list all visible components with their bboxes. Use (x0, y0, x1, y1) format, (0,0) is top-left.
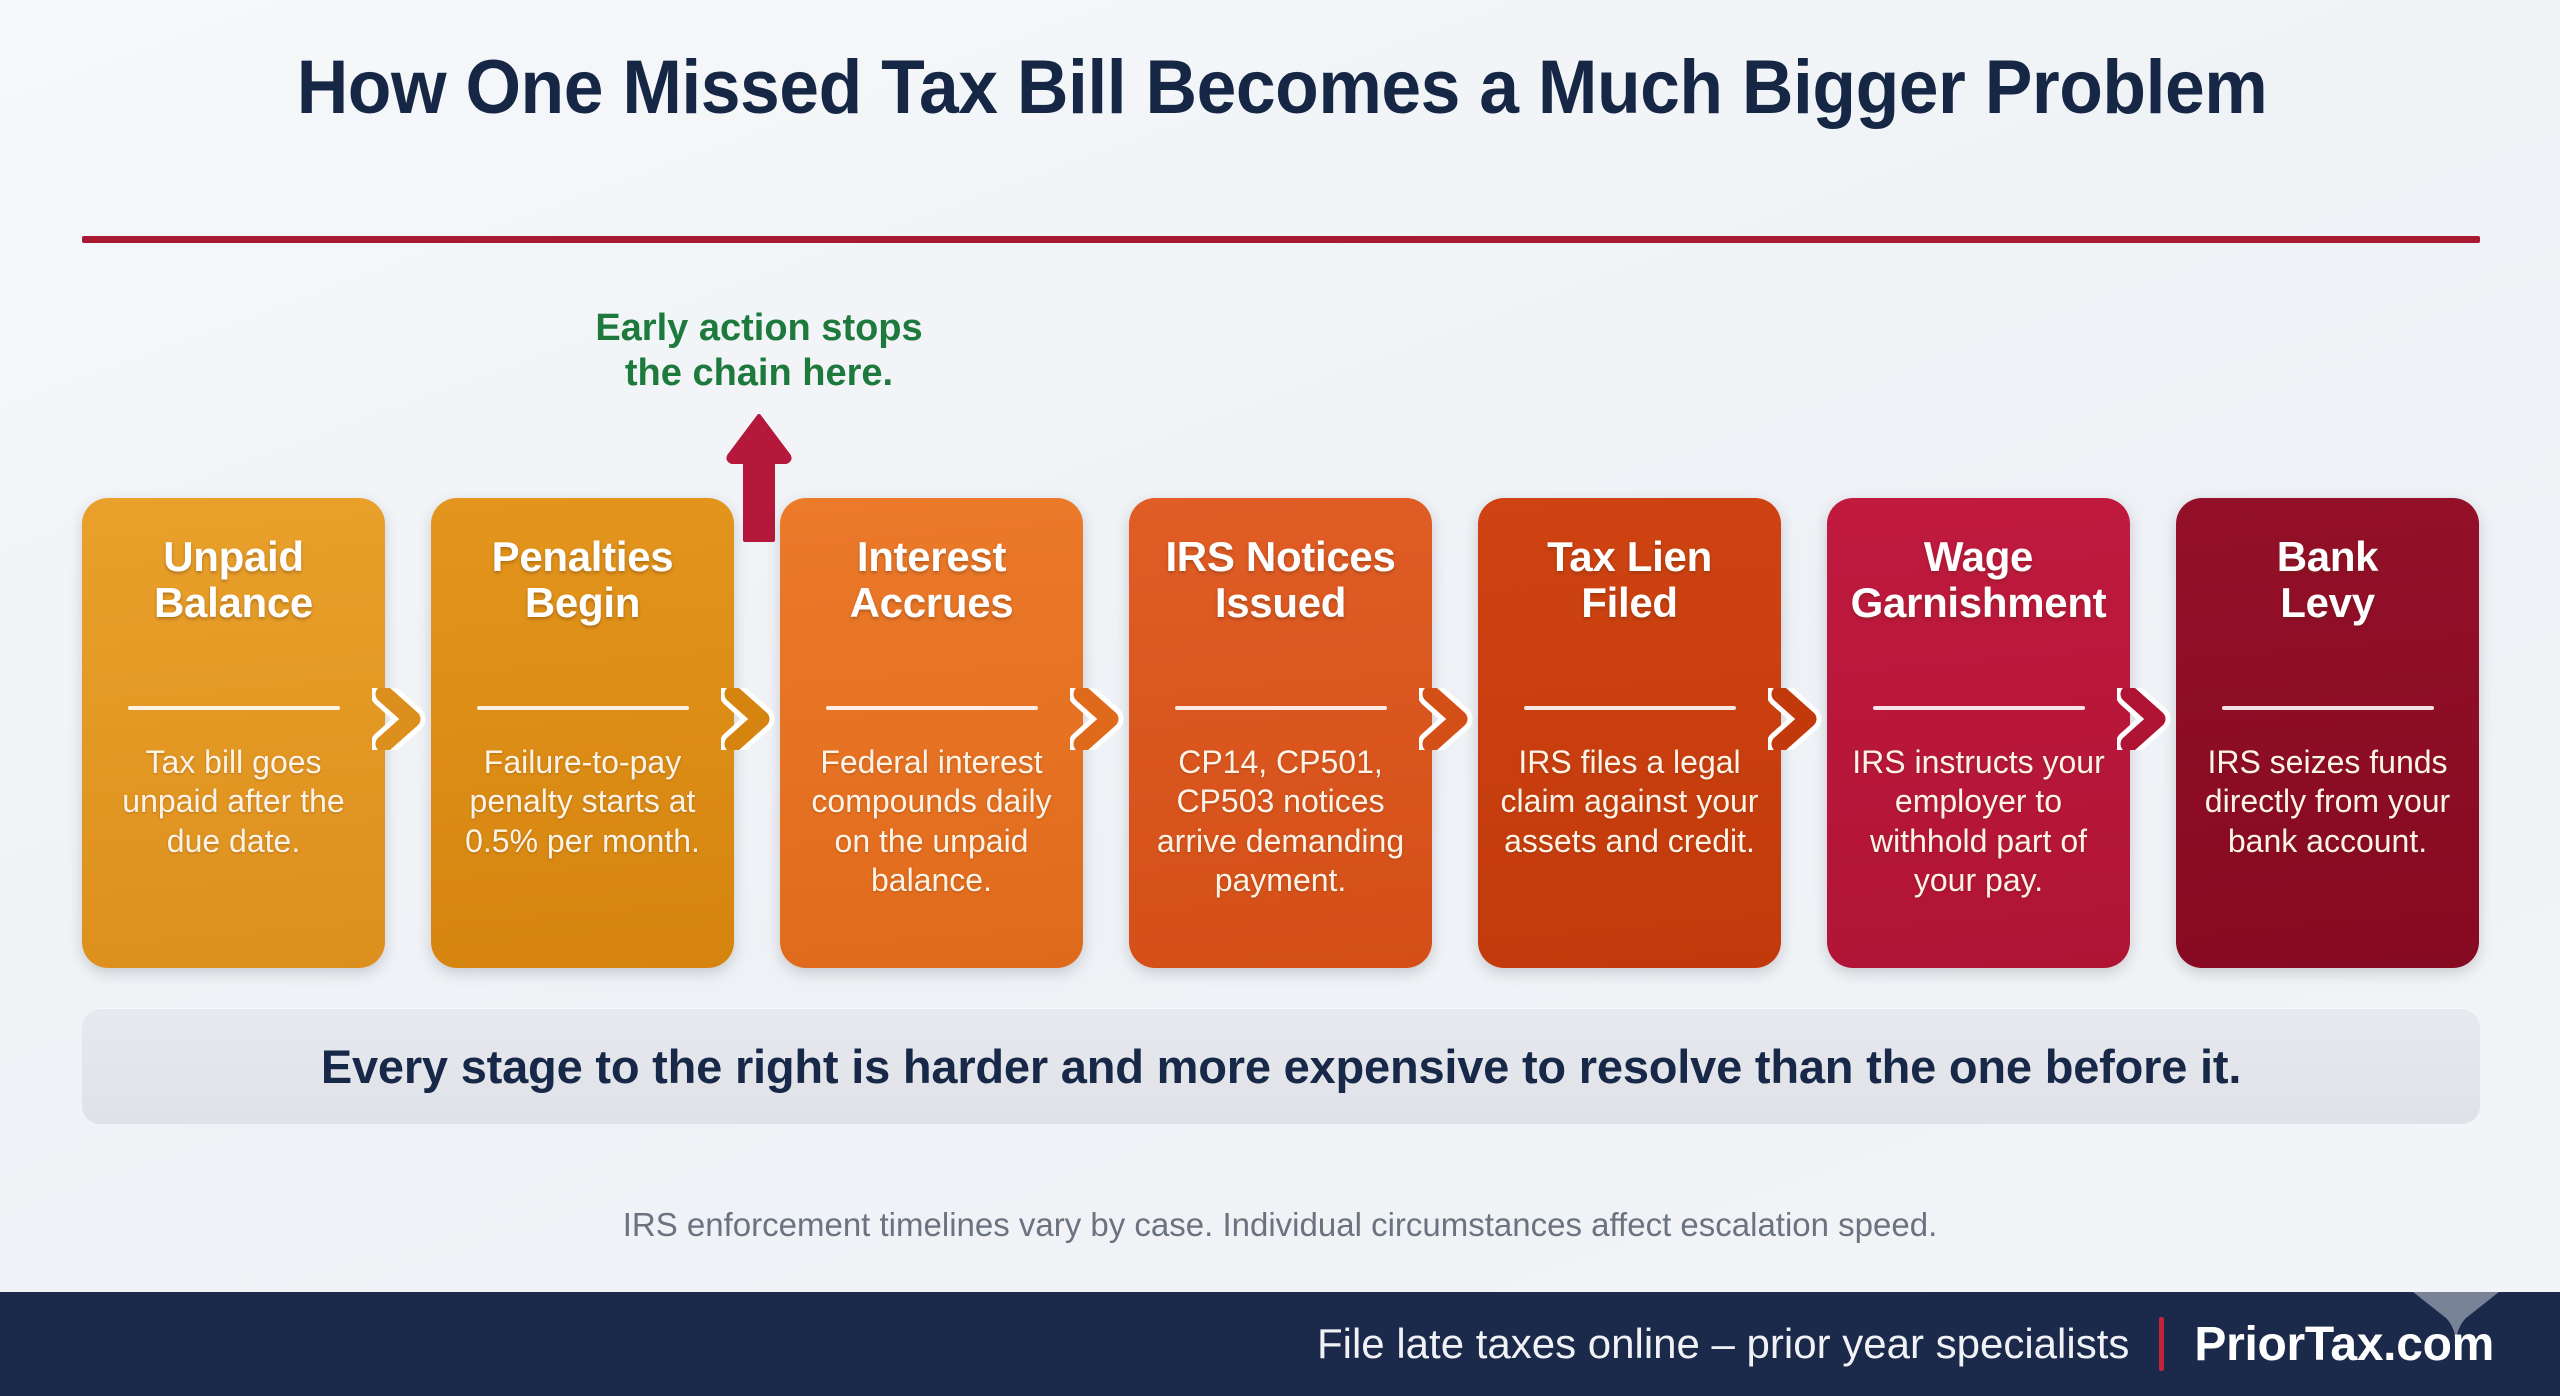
stage-title-line-2: Begin (449, 580, 716, 626)
callout-text: Every stage to the right is harder and m… (321, 1039, 2241, 1094)
stage-title-line-2: Filed (1496, 580, 1763, 626)
stage-card-body: Tax bill goes unpaid after the due date. (98, 743, 369, 861)
infographic-page: How One Missed Tax Bill Becomes a Much B… (0, 0, 2560, 1396)
footer-brand[interactable]: PriorTax.com (2194, 1317, 2494, 1372)
stage-card-body: IRS instructs your employer to withhold … (1843, 743, 2114, 900)
stage-card: Tax LienFiledIRS files a legal claim aga… (1478, 498, 1781, 968)
stage-card-title: Tax LienFiled (1496, 534, 1763, 626)
chevron-right-icon (1070, 688, 1128, 750)
page-title: How One Missed Tax Bill Becomes a Much B… (154, 48, 2410, 129)
stage-card-title: IRS NoticesIssued (1147, 534, 1414, 626)
stage-title-line-2: Issued (1147, 580, 1414, 626)
disclaimer-text: IRS enforcement timelines vary by case. … (0, 1206, 2560, 1244)
stage-card: PenaltiesBeginFailure-to-pay penalty sta… (431, 498, 734, 968)
chevron-right-icon (721, 688, 779, 750)
chevron-right-icon (2117, 688, 2175, 750)
callout-banner: Every stage to the right is harder and m… (82, 1008, 2480, 1124)
stage-card-divider (128, 706, 340, 710)
escalation-chain: UnpaidBalanceTax bill goes unpaid after … (82, 498, 2480, 968)
title-divider-rule (82, 236, 2480, 243)
stage-title-line-2: Garnishment (1845, 580, 2112, 626)
footer-content: File late taxes online – prior year spec… (1317, 1292, 2494, 1396)
stage-card: InterestAccruesFederal interest compound… (780, 498, 1083, 968)
stage-title-line-1: Bank (2194, 534, 2461, 580)
footer-separator (2159, 1317, 2164, 1371)
stage-card-title: WageGarnishment (1845, 534, 2112, 626)
stage-card-body: IRS seizes funds directly from your bank… (2192, 743, 2463, 861)
stage-card-divider (1175, 706, 1387, 710)
stage-title-line-2: Accrues (798, 580, 1065, 626)
stage-card: IRS NoticesIssuedCP14, CP501, CP503 noti… (1129, 498, 1432, 968)
stage-card-divider (2222, 706, 2434, 710)
annotation-line-2: the chain here. (588, 351, 930, 396)
stage-title-line-2: Balance (100, 580, 367, 626)
stage-title-line-1: Tax Lien (1496, 534, 1763, 580)
stage-title-line-1: IRS Notices (1147, 534, 1414, 580)
stage-card-body: IRS files a legal claim against your ass… (1494, 743, 1765, 861)
stage-card-title: UnpaidBalance (100, 534, 367, 626)
footer-tagline: File late taxes online – prior year spec… (1317, 1320, 2129, 1368)
stage-title-line-1: Interest (798, 534, 1065, 580)
stage-card: UnpaidBalanceTax bill goes unpaid after … (82, 498, 385, 968)
stage-card-body: Failure-to-pay penalty starts at 0.5% pe… (447, 743, 718, 861)
chevron-right-icon (372, 688, 430, 750)
stage-card-body: CP14, CP501, CP503 notices arrive demand… (1145, 743, 1416, 900)
stage-title-line-2: Levy (2194, 580, 2461, 626)
stage-card-body: Federal interest compounds daily on the … (796, 743, 1067, 900)
stage-card: WageGarnishmentIRS instructs your employ… (1827, 498, 2130, 968)
stage-title-line-1: Unpaid (100, 534, 367, 580)
stage-card-divider (1524, 706, 1736, 710)
footer-bar: File late taxes online – prior year spec… (0, 1292, 2560, 1396)
annotation-line-1: Early action stops (595, 307, 922, 349)
stage-card: BankLevyIRS seizes funds directly from y… (2176, 498, 2479, 968)
stage-card-title: PenaltiesBegin (449, 534, 716, 626)
stage-card-divider (826, 706, 1038, 710)
chevron-right-icon (1419, 688, 1477, 750)
stage-title-line-1: Penalties (449, 534, 716, 580)
stage-card-divider (1873, 706, 2085, 710)
stage-title-line-1: Wage (1845, 534, 2112, 580)
stage-card-title: InterestAccrues (798, 534, 1065, 626)
stage-card-title: BankLevy (2194, 534, 2461, 626)
stage-card-divider (477, 706, 689, 710)
chevron-right-icon (1768, 688, 1826, 750)
early-action-annotation: Early action stops the chain here. (588, 306, 930, 396)
